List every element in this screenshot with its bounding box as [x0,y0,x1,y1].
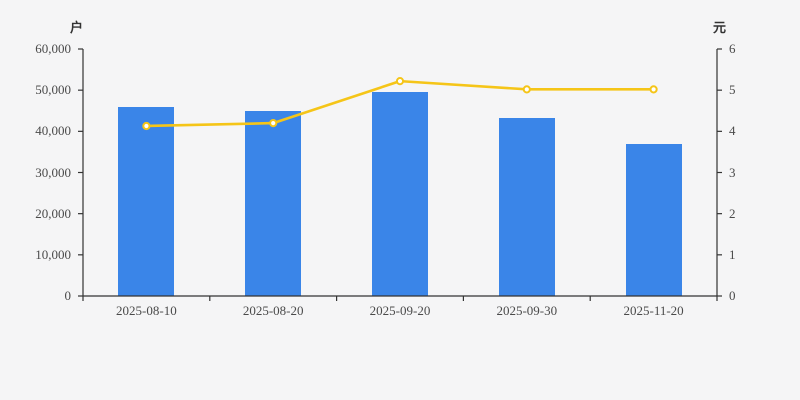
line-data-point-marker[interactable] [651,86,657,92]
right-axis-tick-label: 3 [729,165,736,181]
bar[interactable] [372,92,428,296]
bar[interactable] [499,118,555,296]
bar[interactable] [118,107,174,296]
chart-container: 户 元 010,00020,00030,00040,00050,00060,00… [0,0,800,400]
left-axis-unit-label: 户 [70,17,83,36]
left-axis-tick-label: 50,000 [35,82,71,98]
x-axis-tick-label: 2025-11-20 [624,303,684,319]
x-axis-tick-label: 2025-09-30 [496,303,557,319]
left-axis-tick-label: 0 [65,288,72,304]
left-axis-tick-label: 20,000 [35,206,71,222]
right-axis-tick-label: 4 [729,123,736,139]
right-axis-tick-label: 2 [729,206,736,222]
right-axis-tick-label: 5 [729,82,736,98]
right-axis-tick-label: 6 [729,41,736,57]
x-axis-tick-label: 2025-09-20 [370,303,431,319]
right-axis-tick-label: 0 [729,288,736,304]
x-axis-tick-label: 2025-08-10 [116,303,177,319]
line-data-point-marker[interactable] [524,86,530,92]
bar[interactable] [626,144,682,296]
left-axis-tick-label: 30,000 [35,165,71,181]
line-data-point-marker[interactable] [397,78,403,84]
bar[interactable] [245,111,301,296]
left-axis-tick-label: 40,000 [35,123,71,139]
left-axis-tick-label: 60,000 [35,41,71,57]
right-axis-tick-label: 1 [729,247,736,263]
x-axis-tick-label: 2025-08-20 [243,303,304,319]
right-axis-unit-label: 元 [713,17,726,36]
left-axis-tick-label: 10,000 [35,247,71,263]
